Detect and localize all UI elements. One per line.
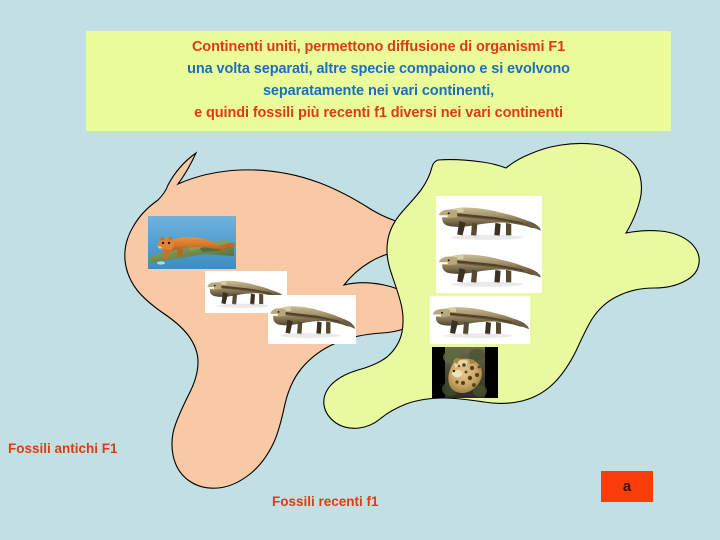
reptile-illustration-east-1	[436, 196, 542, 246]
caption-line-1: Continenti uniti, permettono diffusione …	[90, 36, 667, 58]
caption-line-4: e quindi fossili più recenti f1 diversi …	[90, 102, 667, 124]
reptile-illustration-west-2	[268, 295, 356, 344]
label-fossili-recenti: Fossili recenti f1	[272, 494, 379, 509]
slide-canvas: Continenti uniti, permettono diffusione …	[0, 0, 720, 540]
caption-box: Continenti uniti, permettono diffusione …	[86, 31, 671, 131]
cougar-photo	[148, 216, 236, 269]
badge-a[interactable]: a	[601, 471, 653, 502]
label-fossili-antichi: Fossili antichi F1	[8, 441, 118, 456]
reptile-illustration-east-2	[436, 243, 542, 293]
caption-line-2: una volta separati, altre specie compaio…	[90, 58, 667, 80]
leopard-photo	[432, 347, 498, 398]
reptile-illustration-east-3	[430, 296, 530, 344]
caption-line-3: separatamente nei vari continenti,	[90, 80, 667, 102]
